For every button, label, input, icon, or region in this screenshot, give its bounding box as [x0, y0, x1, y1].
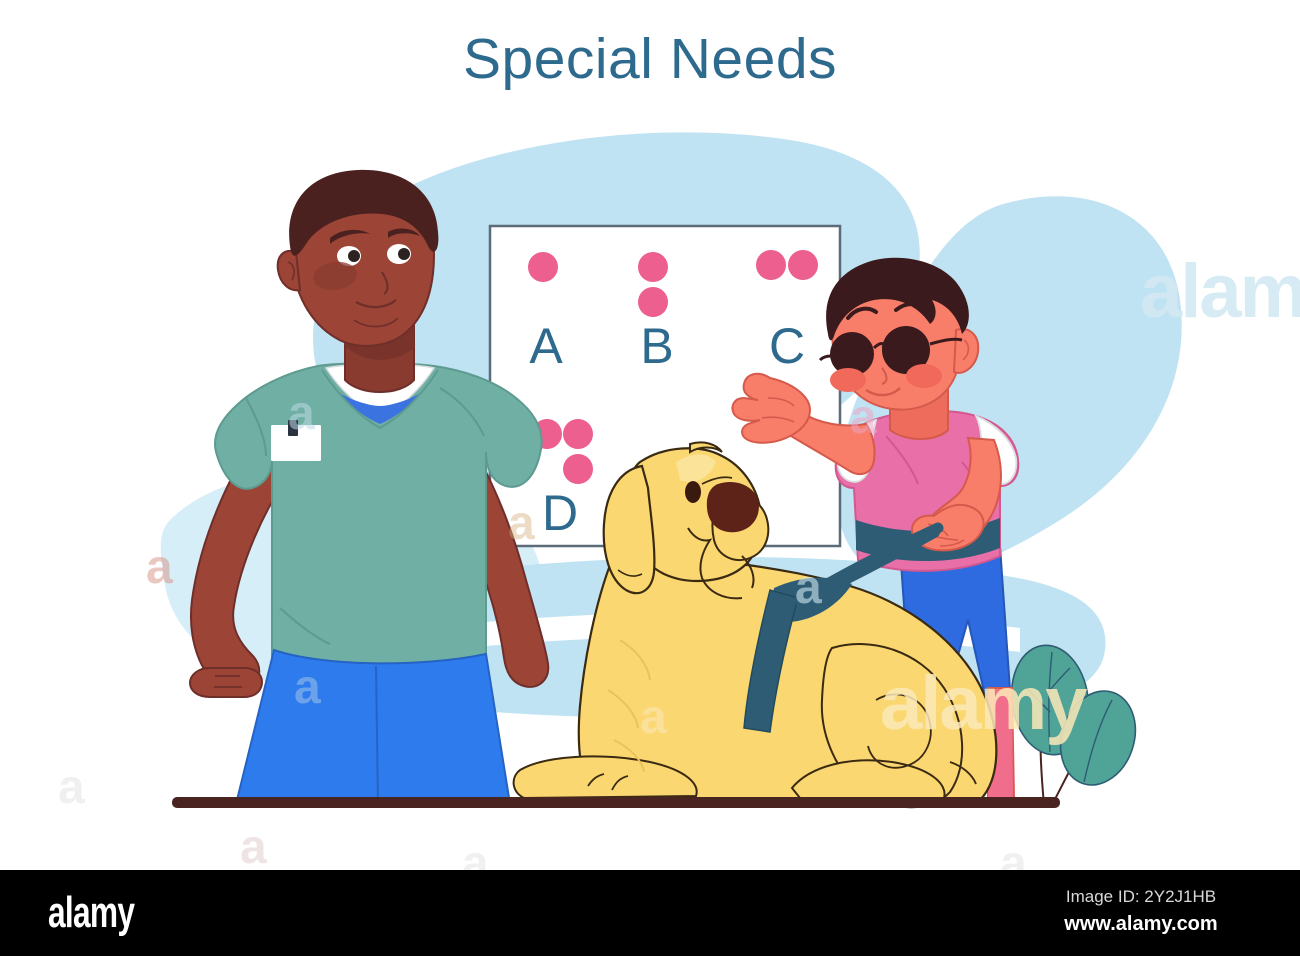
alamy-logo: alamy [48, 888, 134, 938]
page-title: Special Needs [0, 28, 1300, 91]
braille-dot [563, 454, 593, 484]
man-hand-left [190, 668, 262, 697]
alamy-url-text: www.alamy.com [1016, 910, 1266, 939]
alamy-watermark-bar: alamy Image ID: 2Y2J1HB www.alamy.com [0, 870, 1300, 956]
braille-dot [563, 419, 593, 449]
board-letter-d: D [542, 485, 578, 541]
braille-dot [638, 252, 668, 282]
dog-nose [707, 482, 759, 532]
braille-cell-a [528, 252, 558, 282]
man-ear [278, 251, 300, 290]
braille-dot [756, 250, 786, 280]
man-pupil [398, 248, 410, 260]
alamy-credit: Image ID: 2Y2J1HB www.alamy.com [1016, 885, 1266, 939]
image-id-text: Image ID: 2Y2J1HB [1016, 885, 1266, 910]
potted-plant [1005, 640, 1147, 805]
board-letter-c: C [769, 318, 805, 374]
illustration-canvas: A B C D [0, 0, 1300, 870]
board-letter-b: B [640, 318, 673, 374]
boy-cheek-blush [906, 364, 942, 388]
badge-clip [288, 420, 298, 436]
name-badge[interactable] [271, 420, 321, 461]
man-pupil [348, 250, 360, 262]
man-pants [236, 650, 510, 804]
boy-cheek-blush [830, 368, 866, 392]
board-letter-a: A [529, 318, 563, 374]
braille-dot [528, 252, 558, 282]
braille-dot [788, 250, 818, 280]
special-needs-illustration: A B C D [0, 0, 1300, 870]
braille-dot [638, 287, 668, 317]
illustration-page: A B C D [0, 0, 1300, 956]
ground-line [172, 797, 1060, 808]
dog-eye [685, 481, 701, 503]
